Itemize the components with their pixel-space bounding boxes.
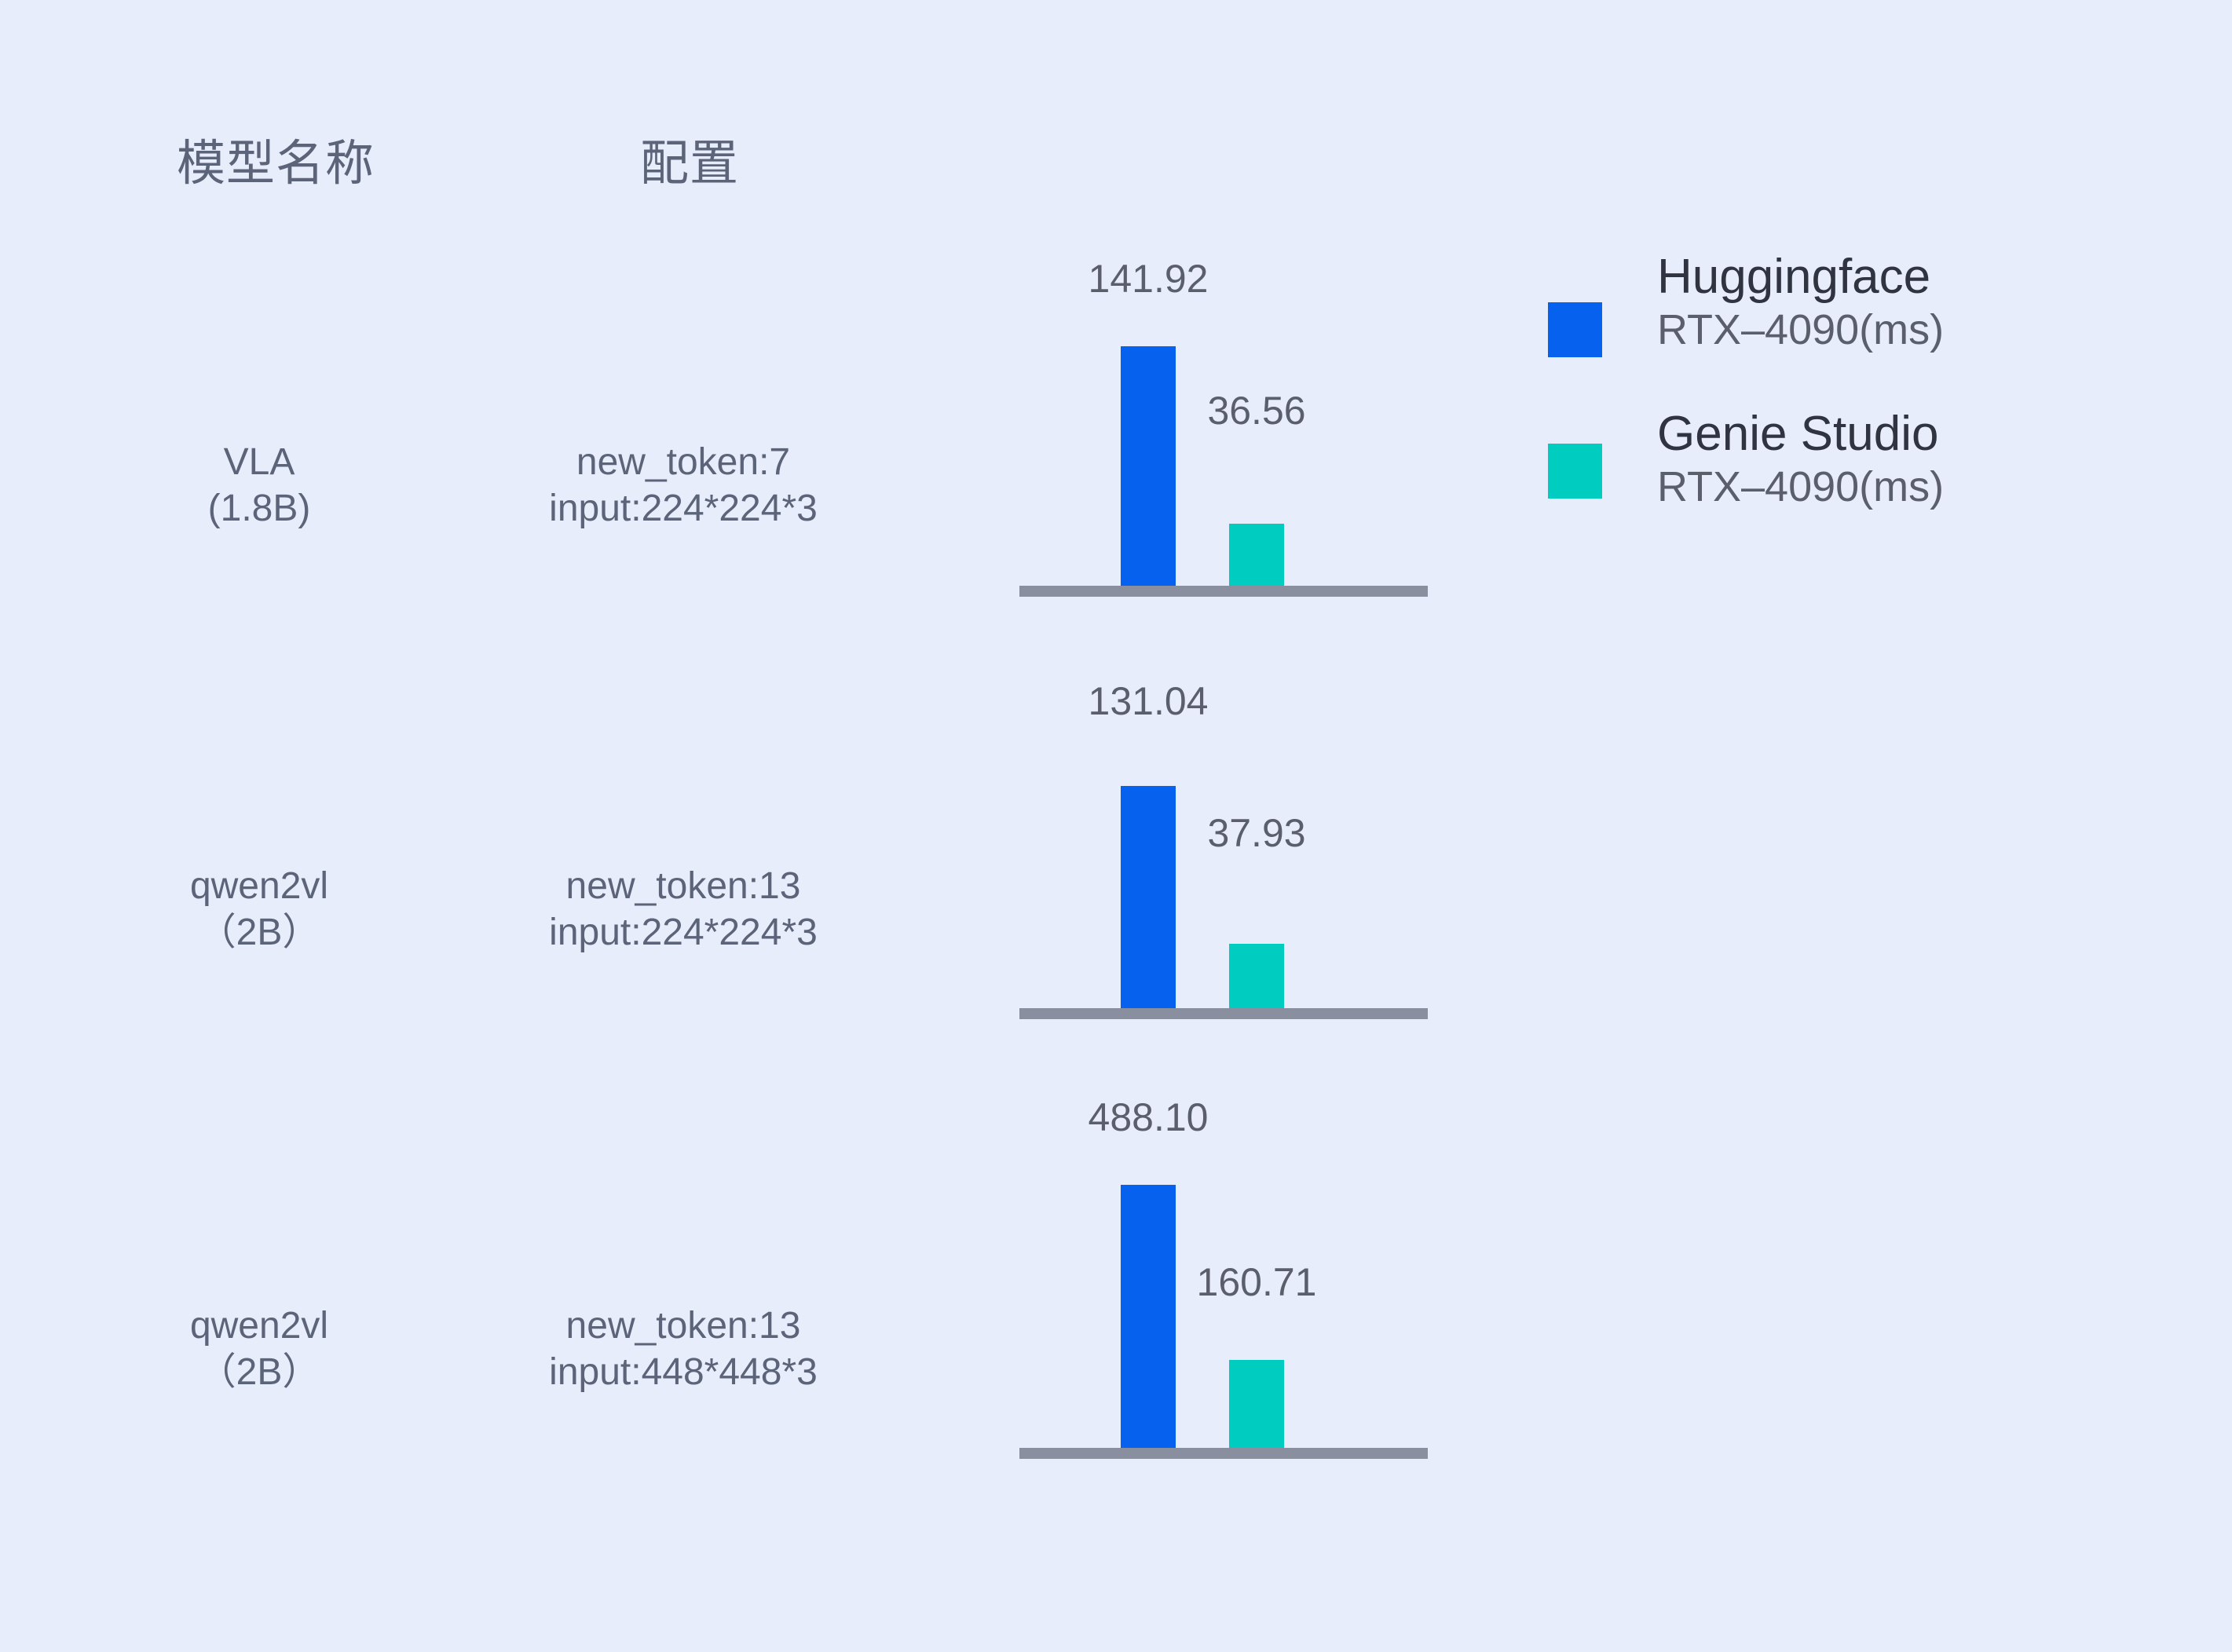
- chart-baseline: [1019, 1448, 1428, 1459]
- model-name-line2: (1.8B): [126, 486, 393, 532]
- column-header-config: 配置: [640, 140, 739, 188]
- chart-baseline: [1019, 1008, 1428, 1019]
- config-line2: input:224*224*3: [440, 486, 927, 532]
- teal-square-swatch-icon: [1548, 444, 1602, 499]
- bar-value-genie-studio: 160.71: [1154, 1263, 1359, 1302]
- bar-value-huggingface: 131.04: [1046, 682, 1250, 721]
- legend-text-group: Genie Studio RTX–4090(ms): [1657, 408, 2144, 514]
- config-line2: input:448*448*3: [440, 1350, 927, 1396]
- legend-label: Huggingface: [1657, 251, 2144, 304]
- config-line1: new_token:7: [440, 440, 927, 486]
- bar-chart-row-3: 488.10 160.71: [1019, 1098, 1428, 1459]
- legend-label: Genie Studio: [1657, 408, 2144, 461]
- bar-value-genie-studio: 36.56: [1154, 391, 1359, 430]
- model-name-cell: qwen2vl （2B）: [126, 864, 393, 956]
- bar-chart-row-1: 141.92 36.56: [1019, 259, 1428, 597]
- config-line2: input:224*224*3: [440, 910, 927, 956]
- config-cell: new_token:7 input:224*224*3: [440, 440, 927, 532]
- chart-legend: Huggingface RTX–4090(ms) Genie Studio RT…: [1543, 251, 2187, 565]
- bar-huggingface[interactable]: [1121, 786, 1176, 1008]
- bar-value-genie-studio: 37.93: [1154, 813, 1359, 853]
- config-cell: new_token:13 input:448*448*3: [440, 1303, 927, 1395]
- model-name-cell: VLA (1.8B): [126, 440, 393, 532]
- bar-genie-studio[interactable]: [1229, 524, 1284, 586]
- chart-baseline: [1019, 586, 1428, 597]
- bar-value-huggingface: 488.10: [1046, 1098, 1250, 1137]
- config-line1: new_token:13: [440, 864, 927, 910]
- legend-item-huggingface[interactable]: Huggingface RTX–4090(ms): [1543, 251, 2187, 408]
- model-name-line1: qwen2vl: [126, 1303, 393, 1350]
- bar-genie-studio[interactable]: [1229, 1360, 1284, 1448]
- comparison-chart-page: 模型名称 配置 VLA (1.8B) new_token:7 input:224…: [0, 0, 2232, 1652]
- column-header-model-name: 模型名称: [177, 140, 375, 188]
- config-line1: new_token:13: [440, 1303, 927, 1350]
- model-name-line1: VLA: [126, 440, 393, 486]
- model-name-line1: qwen2vl: [126, 864, 393, 910]
- blue-square-swatch-icon: [1548, 302, 1602, 357]
- legend-item-genie-studio[interactable]: Genie Studio RTX–4090(ms): [1543, 408, 2187, 565]
- model-name-line2: （2B）: [126, 1350, 393, 1396]
- bar-value-huggingface: 141.92: [1046, 259, 1250, 298]
- bar-huggingface[interactable]: [1121, 1185, 1176, 1456]
- config-cell: new_token:13 input:224*224*3: [440, 864, 927, 956]
- model-name-line2: （2B）: [126, 910, 393, 956]
- bar-huggingface[interactable]: [1121, 346, 1176, 586]
- legend-sublabel: RTX–4090(ms): [1657, 461, 2144, 514]
- bar-chart-row-2: 131.04 37.93: [1019, 682, 1428, 1019]
- legend-sublabel: RTX–4090(ms): [1657, 304, 2144, 357]
- model-name-cell: qwen2vl （2B）: [126, 1303, 393, 1395]
- legend-text-group: Huggingface RTX–4090(ms): [1657, 251, 2144, 356]
- bar-genie-studio[interactable]: [1229, 944, 1284, 1008]
